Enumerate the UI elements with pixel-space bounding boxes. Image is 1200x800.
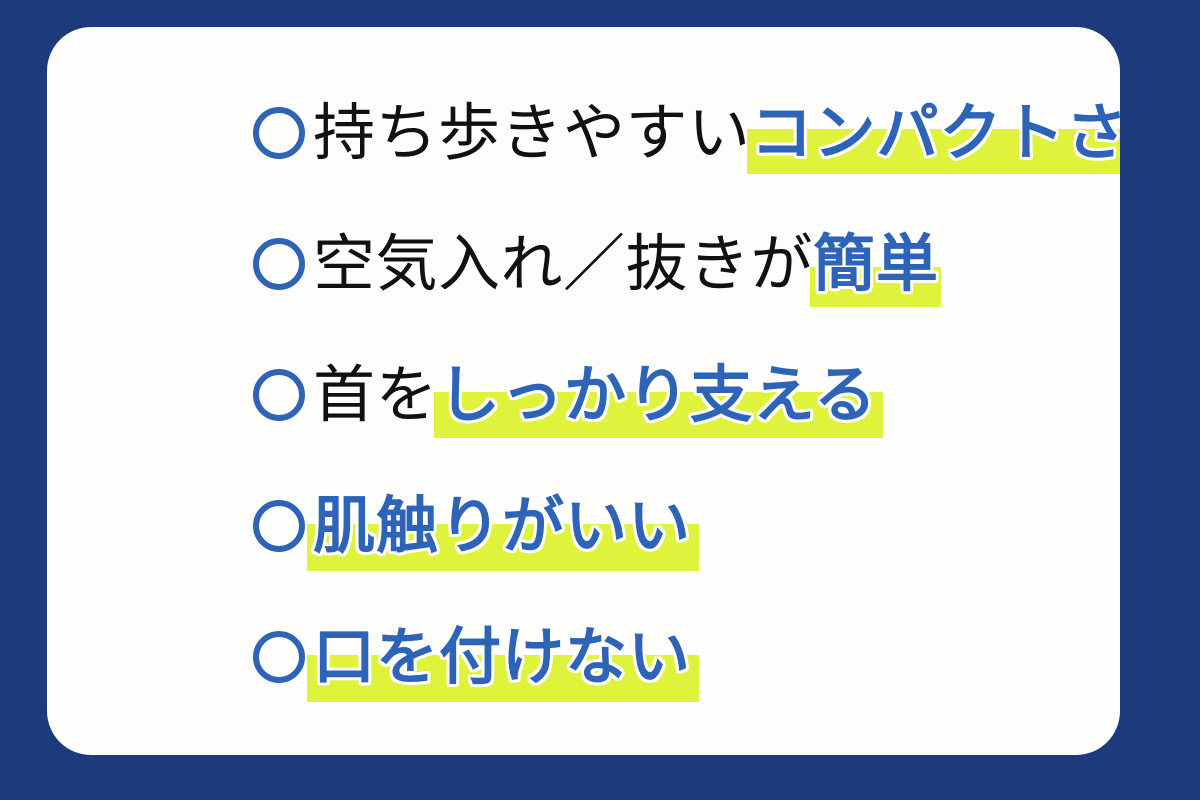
circle-outline-icon <box>253 369 305 421</box>
circle-outline-icon <box>253 500 305 552</box>
checklist: 持ち歩きやすい コンパクトさ 空気入れ／抜きが 簡単 首を しっかり支える 肌触… <box>47 27 1120 755</box>
list-item-text-plain: 空気入れ／抜きが <box>313 225 813 303</box>
list-item: 持ち歩きやすい コンパクトさ <box>253 87 1120 179</box>
circle-outline-icon <box>253 107 305 159</box>
list-item: 首を しっかり支える <box>253 349 877 441</box>
list-item: 口を付けない <box>253 611 691 703</box>
list-item: 空気入れ／抜きが 簡単 <box>253 218 939 310</box>
list-item-text-highlighted: しっかり支える <box>438 356 877 434</box>
list-item-text-highlighted: 簡単 <box>813 225 939 303</box>
content-card: 持ち歩きやすい コンパクトさ 空気入れ／抜きが 簡単 首を しっかり支える 肌触… <box>47 27 1120 755</box>
circle-outline-icon <box>253 238 305 290</box>
list-item-text-plain: 首を <box>313 356 438 434</box>
circle-outline-icon <box>253 631 305 683</box>
list-item-text-highlighted: コンパクトさ <box>751 94 1120 172</box>
slide-background: 持ち歩きやすい コンパクトさ 空気入れ／抜きが 簡単 首を しっかり支える 肌触… <box>0 0 1200 800</box>
list-item-text-plain: 持ち歩きやすい <box>313 94 751 172</box>
list-item-text-highlighted: 口を付けない <box>313 618 691 696</box>
list-item: 肌触りがいい <box>253 480 691 572</box>
list-item-text-highlighted: 肌触りがいい <box>313 487 691 565</box>
